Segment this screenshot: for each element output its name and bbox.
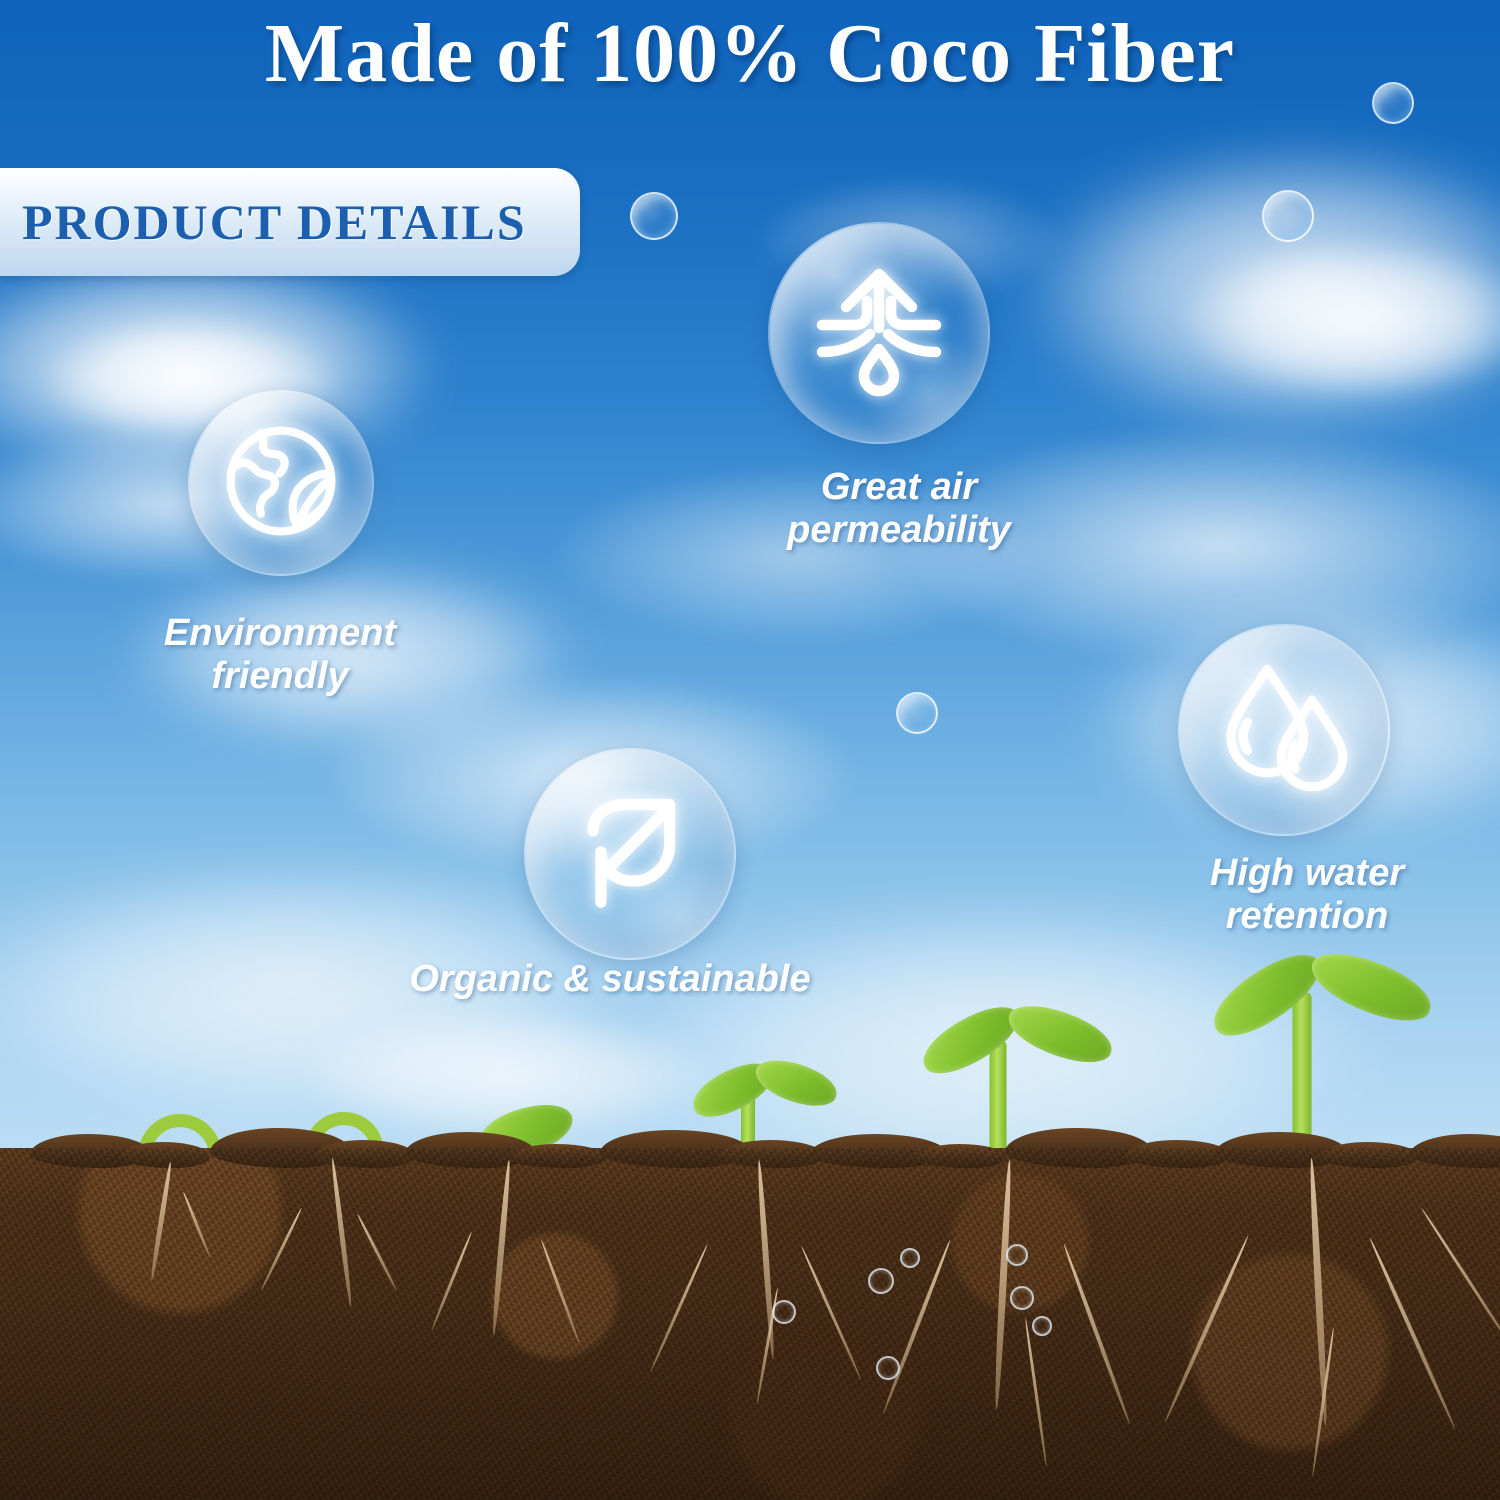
feature-bubble	[524, 748, 736, 960]
feature-bubble	[768, 222, 990, 444]
decor-bubble	[630, 192, 678, 240]
soil-pore-bubble	[1006, 1244, 1028, 1266]
feature-great-air-permeability	[768, 222, 990, 444]
soil-pore-bubble	[1010, 1286, 1034, 1310]
soil-pore-bubble	[900, 1248, 920, 1268]
feature-label-great-air-permeability: Great air permeability	[740, 466, 1058, 552]
decor-bubble	[1372, 82, 1414, 124]
soil-pore-bubble	[876, 1356, 900, 1380]
soil-layer	[0, 1148, 1500, 1500]
feature-bubble	[188, 390, 374, 576]
water-drops-icon	[1214, 658, 1354, 803]
soil-pore-bubble	[868, 1268, 894, 1294]
feature-organic-sustainable	[524, 748, 736, 960]
soil-pore-bubble	[772, 1300, 796, 1324]
feature-bubble	[1178, 624, 1390, 836]
decor-bubble	[896, 692, 938, 734]
badge-label: PRODUCT DETAILS	[0, 193, 527, 251]
air-flow-droplet-icon	[804, 256, 954, 411]
infographic-canvas: Made of 100% Coco Fiber PRODUCT DETAILS …	[0, 0, 1500, 1500]
decor-bubble	[1262, 190, 1314, 242]
feature-label-environment-friendly: Environment friendly	[135, 612, 425, 698]
leaf-icon	[564, 786, 696, 923]
product-details-badge: PRODUCT DETAILS	[0, 168, 580, 276]
globe-leaf-icon	[218, 418, 344, 549]
feature-environment-friendly	[188, 390, 374, 576]
feature-high-water-retention	[1178, 624, 1390, 836]
soil-pore-bubble	[1032, 1316, 1052, 1336]
page-title: Made of 100% Coco Fiber	[0, 10, 1500, 98]
